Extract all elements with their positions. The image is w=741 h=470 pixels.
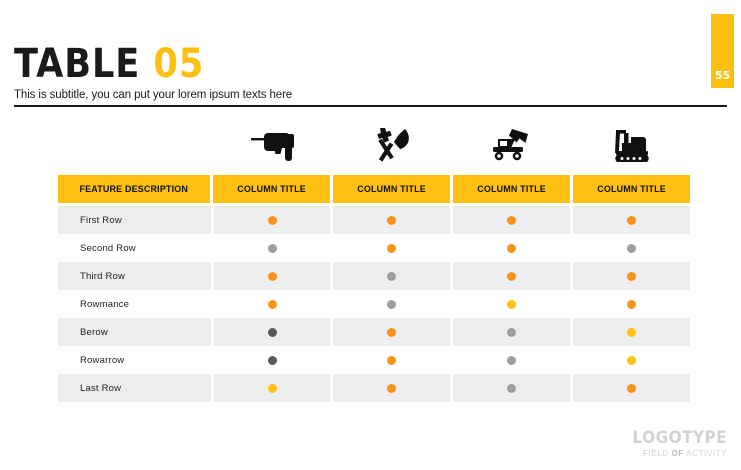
table-cell[interactable] [453,374,570,402]
table-header-label: COLUMN TITLE [477,184,546,195]
table-cell[interactable] [573,290,690,318]
table-row-label: First Row [80,215,122,226]
status-dot-orange [387,356,396,365]
table-row[interactable]: Rowmance [58,290,690,318]
table-cell[interactable] [453,206,570,234]
table-cell[interactable] [453,318,570,346]
table-header-cell-4: COLUMN TITLE [573,175,690,203]
table-header-cell-2: COLUMN TITLE [333,175,450,203]
table-header-label: FEATURE DESCRIPTION [80,184,189,195]
table-header-cell-1: COLUMN TITLE [213,175,330,203]
status-dot-orange [507,244,516,253]
status-dot-orange [268,300,277,309]
table-cell[interactable] [214,262,331,290]
table-row-label: Berow [80,327,108,338]
table-cell[interactable] [333,374,450,402]
logo: LOGOTYPE FIELD OF ACTIVITY [622,430,727,458]
wheeled-excavator-icon [451,122,570,166]
status-dot-yellow [627,356,636,365]
logo-tagline-before: FIELD [643,449,672,458]
logo-tagline: FIELD OF ACTIVITY [622,449,727,458]
status-dot-yellow [507,300,516,309]
table-cell[interactable] [214,318,331,346]
status-dot-gray-light [268,244,277,253]
table-row[interactable]: Second Row [58,234,690,262]
table-cell[interactable] [214,206,331,234]
page-title-accent: 05 [153,41,204,87]
table-header-label: COLUMN TITLE [357,184,426,195]
table-row-label: Second Row [80,243,136,254]
status-dot-orange [627,272,636,281]
table-row[interactable]: First Row [58,206,690,234]
table-cell[interactable] [573,206,690,234]
status-dot-orange [387,244,396,253]
table-cell[interactable] [333,234,450,262]
table-row-label-cell: Last Row [58,374,211,402]
table-cell[interactable] [333,346,450,374]
page-title-main: TABLE [14,41,140,87]
page-title: TABLE 05 [14,44,642,84]
status-dot-gray-dark [268,328,277,337]
table-cell[interactable] [453,262,570,290]
table-cell[interactable] [214,234,331,262]
status-dot-gray-dark [268,356,277,365]
table-row-label-cell: Second Row [58,234,211,262]
status-dot-orange [387,328,396,337]
status-dot-orange [268,216,277,225]
slide-header: TABLE 05 This is subtitle, you can put y… [14,44,728,107]
logo-tagline-bold: OF [672,449,684,458]
logo-title: LOGOTYPE [632,430,727,447]
status-dot-gray-light [507,356,516,365]
table-cell[interactable] [453,290,570,318]
table-cell[interactable] [214,346,331,374]
status-dot-gray-light [507,328,516,337]
table-header-label: COLUMN TITLE [237,184,306,195]
table-row-label: Third Row [80,271,125,282]
table-cell[interactable] [214,290,331,318]
table-cell[interactable] [573,374,690,402]
table-cell[interactable] [573,346,690,374]
status-dot-orange [627,300,636,309]
hammer-and-trowel-icon [332,122,451,166]
table-row[interactable]: Third Row [58,262,690,290]
table-cell[interactable] [453,346,570,374]
table-cell[interactable] [453,234,570,262]
column-icons [213,122,690,166]
page-subtitle: This is subtitle, you can put your lorem… [14,89,728,101]
table-cell[interactable] [573,262,690,290]
table-row-label-cell: First Row [58,206,211,234]
status-dot-orange [268,272,277,281]
power-drill-icon [213,122,332,166]
table-cell[interactable] [573,234,690,262]
table-header-cell-feature: FEATURE DESCRIPTION [58,175,210,203]
status-dot-orange [627,384,636,393]
status-dot-gray-light [387,300,396,309]
table-cell[interactable] [214,374,331,402]
table-row[interactable]: Last Row [58,374,690,402]
table-cell[interactable] [573,318,690,346]
status-dot-orange [387,216,396,225]
header-divider [14,105,727,107]
table-cell[interactable] [333,206,450,234]
status-dot-yellow [627,328,636,337]
table-row-label: Last Row [80,383,121,394]
table-row[interactable]: Berow [58,318,690,346]
status-dot-orange [627,216,636,225]
table-row[interactable]: Rowarrow [58,346,690,374]
status-dot-orange [507,216,516,225]
status-dot-gray-light [627,244,636,253]
status-dot-gray-light [507,384,516,393]
logo-tagline-after: ACTIVITY [684,449,727,458]
table-row-label-cell: Third Row [58,262,211,290]
table-header-row: FEATURE DESCRIPTION COLUMN TITLE COLUMN … [58,175,690,203]
table-cell[interactable] [333,290,450,318]
table-header-label: COLUMN TITLE [597,184,666,195]
table-row-label-cell: Rowmance [58,290,211,318]
comparison-table: FEATURE DESCRIPTION COLUMN TITLE COLUMN … [58,175,690,402]
status-dot-orange [387,384,396,393]
table-row-label: Rowarrow [80,355,124,366]
table-body: First RowSecond RowThird RowRowmanceBero… [58,206,690,402]
status-dot-orange [507,272,516,281]
status-dot-gray-light [387,272,396,281]
tracked-excavator-icon [570,122,689,166]
status-dot-yellow [268,384,277,393]
table-row-label-cell: Rowarrow [58,346,211,374]
table-row-label-cell: Berow [58,318,211,346]
table-cell[interactable] [333,262,450,290]
table-cell[interactable] [333,318,450,346]
table-header-cell-3: COLUMN TITLE [453,175,570,203]
table-row-label: Rowmance [80,299,129,310]
